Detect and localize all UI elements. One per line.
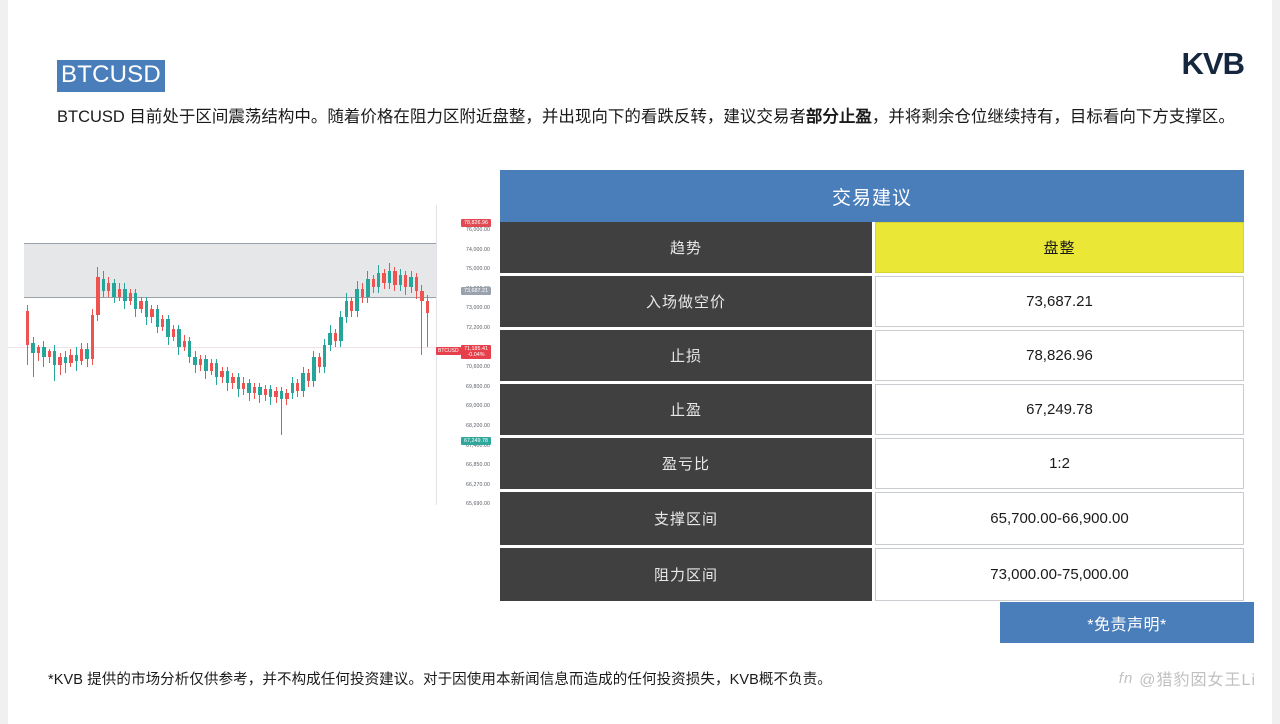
candle-body xyxy=(334,333,337,341)
candle-body xyxy=(382,273,385,283)
candle-body xyxy=(139,301,142,309)
candle-body xyxy=(123,289,126,301)
candle-body xyxy=(404,275,407,287)
axis-tick-label: 69,000.00 xyxy=(466,403,490,409)
left-edge-band xyxy=(0,0,8,724)
candle-body xyxy=(355,289,358,311)
candle-body xyxy=(366,279,369,297)
candle-body xyxy=(150,309,153,317)
axis-tick-label: 68,200.00 xyxy=(466,423,490,429)
row-label: 支撑区间 xyxy=(500,492,872,545)
candle-body xyxy=(134,293,137,309)
candle-body xyxy=(226,371,229,383)
table-row: 入场做空价73,687.21 xyxy=(500,276,1244,327)
last-price-change: -0.04% xyxy=(464,352,488,358)
axis-tick-label: 75,000.00 xyxy=(466,266,490,272)
candle-body xyxy=(166,319,169,337)
row-value: 73,000.00-75,000.00 xyxy=(875,548,1244,601)
axis-tick-label: 66,850.00 xyxy=(466,462,490,468)
axis-tick-label: 65,690.00 xyxy=(466,501,490,507)
candle-body xyxy=(420,291,423,301)
candle-body xyxy=(48,351,51,357)
candle-body xyxy=(285,393,288,399)
candle-body xyxy=(393,271,396,285)
right-edge-band xyxy=(1272,0,1280,724)
analysis-text-part2: ，并将剩余仓位继续持有，目标看向下方支撑区。 xyxy=(872,108,1235,126)
axis-tick-label: 76,000.00 xyxy=(466,227,490,233)
watermark: fn @猎豹囡女王Li xyxy=(1119,666,1256,690)
disclaimer-button[interactable]: *免责声明* xyxy=(1000,602,1254,643)
candle-body xyxy=(156,309,159,327)
candle-body xyxy=(409,277,412,287)
row-label: 趋势 xyxy=(500,222,872,273)
candle-body xyxy=(242,383,245,389)
table-row: 趋势盘整 xyxy=(500,222,1244,273)
row-value: 67,249.78 xyxy=(875,384,1244,435)
table-row: 阻力区间73,000.00-75,000.00 xyxy=(500,548,1244,601)
candle-body xyxy=(231,377,234,383)
candle-body xyxy=(258,387,261,395)
candle-body xyxy=(42,347,45,357)
footer-disclaimer: *KVB 提供的市场分析仅供参考，并不构成任何投资建议。对于因使用本新闻信息而造… xyxy=(48,668,832,689)
table-row: 支撑区间65,700.00-66,900.00 xyxy=(500,492,1244,545)
candle-body xyxy=(172,329,175,337)
candle-body xyxy=(318,357,321,367)
price-axis[interactable]: 76,000.0074,000.0075,000.0074,000.0073,0… xyxy=(436,205,492,505)
axis-tick-label: 70,600.00 xyxy=(466,364,490,370)
candle-body xyxy=(312,357,315,381)
candle-body xyxy=(426,301,429,313)
candle-body xyxy=(361,289,364,297)
candle-body xyxy=(280,391,283,399)
candle-body xyxy=(345,301,348,317)
resistance-zone xyxy=(24,243,436,298)
candle-body xyxy=(269,389,272,397)
trade-suggestion-table: 趋势盘整入场做空价73,687.21止损78,826.96止盈67,249.78… xyxy=(500,222,1244,604)
row-value: 1:2 xyxy=(875,438,1244,489)
row-label: 阻力区间 xyxy=(500,548,872,601)
axis-tick-label: 72,200.00 xyxy=(466,325,490,331)
candle-body xyxy=(37,347,40,353)
candle-body xyxy=(296,383,299,391)
candle-body xyxy=(58,357,61,365)
axis-tick-label: 73,000.00 xyxy=(466,305,490,311)
candle-body xyxy=(237,377,240,389)
price-chart[interactable]: 76,000.0074,000.0075,000.0074,000.0073,0… xyxy=(8,205,492,505)
candle-body xyxy=(372,279,375,287)
watermark-icon: fn xyxy=(1119,670,1134,687)
candle-body xyxy=(80,349,83,361)
candle-body xyxy=(199,359,202,365)
row-value: 盘整 xyxy=(875,222,1244,273)
chart-plot-area[interactable] xyxy=(8,205,436,505)
row-label: 盈亏比 xyxy=(500,438,872,489)
candle-body xyxy=(193,357,196,365)
candle-body xyxy=(69,355,72,363)
row-value: 65,700.00-66,900.00 xyxy=(875,492,1244,545)
candle-body xyxy=(188,341,191,357)
row-label: 入场做空价 xyxy=(500,276,872,327)
candle-body xyxy=(274,391,277,397)
row-label: 止盈 xyxy=(500,384,872,435)
candle-body xyxy=(161,319,164,327)
candle-body xyxy=(291,383,294,393)
candle-body xyxy=(91,315,94,359)
candle-body xyxy=(177,329,180,347)
analysis-text-part1: BTCUSD 目前处于区间震荡结构中。随着价格在阻力区附近盘整，并出现向下的看跌… xyxy=(57,108,806,126)
table-row: 止盈67,249.78 xyxy=(500,384,1244,435)
candle-body xyxy=(26,311,29,345)
candle-body xyxy=(210,363,213,371)
candle-body xyxy=(145,301,148,317)
candle-body xyxy=(183,341,186,347)
candle-body xyxy=(129,293,132,301)
last-price-badge[interactable]: 71,185.41-0.04% xyxy=(461,345,491,359)
candle-body xyxy=(96,277,99,315)
candle-body xyxy=(112,283,115,297)
stop-loss-badge[interactable]: 78,826.96 xyxy=(461,219,491,227)
candle-body xyxy=(253,387,256,393)
candle-body xyxy=(339,317,342,341)
candle-body xyxy=(118,289,121,297)
symbol-badge: BTCUSD xyxy=(57,60,165,92)
table-header: 交易建议 xyxy=(500,170,1244,222)
candle-body xyxy=(264,389,267,395)
candle-body xyxy=(53,351,56,365)
take-profit-badge[interactable]: 67,249.78 xyxy=(461,437,491,445)
candle-body xyxy=(102,279,105,291)
candle-body xyxy=(220,371,223,377)
entry-badge[interactable]: 73,687.21 xyxy=(461,287,491,295)
candle-body xyxy=(415,277,418,291)
candle-body xyxy=(75,355,78,361)
candle-body xyxy=(323,345,326,367)
candle-body xyxy=(399,275,402,285)
candle-body xyxy=(204,359,207,371)
last-price-line xyxy=(8,347,436,348)
row-label: 止损 xyxy=(500,330,872,381)
symbol-price-tag: BTCUSD xyxy=(436,347,461,355)
candle-body xyxy=(215,363,218,377)
candle-body xyxy=(85,349,88,359)
slide-root: KVB BTCUSD BTCUSD 目前处于区间震荡结构中。随着价格在阻力区附近… xyxy=(0,0,1280,724)
candle-body xyxy=(328,333,331,345)
analysis-paragraph: BTCUSD 目前处于区间震荡结构中。随着价格在阻力区附近盘整，并出现向下的看跌… xyxy=(57,104,1252,130)
axis-tick-label: 66,270.00 xyxy=(466,482,490,488)
candle-body xyxy=(31,343,34,353)
candle-body xyxy=(350,301,353,311)
row-value: 73,687.21 xyxy=(875,276,1244,327)
axis-tick-label: 69,800.00 xyxy=(466,384,490,390)
table-row: 止损78,826.96 xyxy=(500,330,1244,381)
kvb-logo: KVB xyxy=(1182,46,1244,82)
candle-body xyxy=(377,273,380,287)
table-row: 盈亏比1:2 xyxy=(500,438,1244,489)
candle-body xyxy=(388,271,391,283)
page-title: BTCUSD xyxy=(57,60,165,92)
candle-body xyxy=(307,373,310,381)
candle-body xyxy=(247,383,250,393)
candle-body xyxy=(301,373,304,391)
row-value: 78,826.96 xyxy=(875,330,1244,381)
candle-body xyxy=(64,357,67,363)
candle-body xyxy=(107,283,110,291)
watermark-handle: @猎豹囡女王Li xyxy=(1139,666,1256,690)
axis-tick-label: 74,000.00 xyxy=(466,247,490,253)
analysis-text-emphasis: 部分止盈 xyxy=(806,108,872,126)
